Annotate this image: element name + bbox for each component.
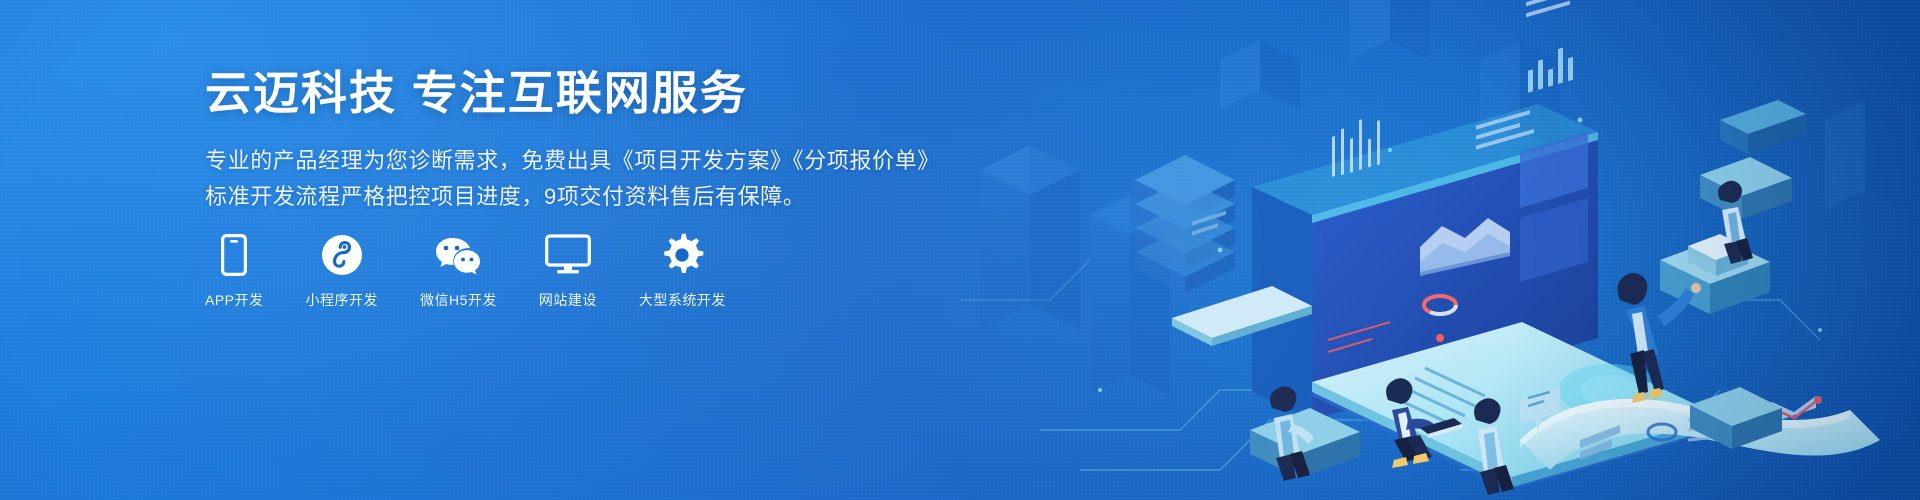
banner-copy: 云迈科技 专注互联网服务 专业的产品经理为您诊断需求，免费出具《项目开发方案》《… bbox=[205, 66, 945, 215]
service-label: 小程序开发 bbox=[306, 290, 379, 310]
wechat-icon bbox=[432, 232, 484, 278]
floating-panel bbox=[1720, 0, 1806, 154]
banner-subtitle: 专业的产品经理为您诊断需求，免费出具《项目开发方案》《分项报价单》 标准开发流程… bbox=[205, 143, 945, 215]
hero-banner: 云迈科技 专注互联网服务 专业的产品经理为您诊断需求，免费出具《项目开发方案》《… bbox=[0, 0, 1920, 500]
mobile-phone-icon bbox=[208, 232, 260, 278]
page-title: 云迈科技 专注互联网服务 bbox=[205, 66, 945, 121]
pedestal-cube-right-upper bbox=[1700, 157, 1792, 219]
subtitle-line-1: 专业的产品经理为您诊断需求，免费出具《项目开发方案》《分项报价单》 bbox=[205, 143, 945, 179]
mini-program-icon bbox=[316, 232, 368, 278]
service-item-large-system[interactable]: 大型系统开发 bbox=[639, 232, 726, 310]
service-item-website[interactable]: 网站建设 bbox=[539, 232, 597, 310]
service-item-app[interactable]: APP开发 bbox=[205, 232, 264, 310]
service-item-wechat-h5[interactable]: 微信H5开发 bbox=[420, 232, 497, 310]
server-stack bbox=[1135, 155, 1235, 293]
service-label: 大型系统开发 bbox=[639, 290, 726, 310]
service-label: 微信H5开发 bbox=[420, 290, 497, 310]
service-label: APP开发 bbox=[205, 290, 264, 310]
gear-icon bbox=[656, 232, 708, 278]
isometric-tech-illustration bbox=[920, 0, 1920, 500]
monitor-icon bbox=[542, 232, 594, 278]
service-list: APP开发 小程序开发 bbox=[205, 232, 726, 310]
service-label: 网站建设 bbox=[539, 290, 597, 310]
subtitle-line-2: 标准开发流程严格把控项目进度，9项交付资料售后有保障。 bbox=[205, 179, 945, 215]
service-item-mini-program[interactable]: 小程序开发 bbox=[306, 232, 379, 310]
